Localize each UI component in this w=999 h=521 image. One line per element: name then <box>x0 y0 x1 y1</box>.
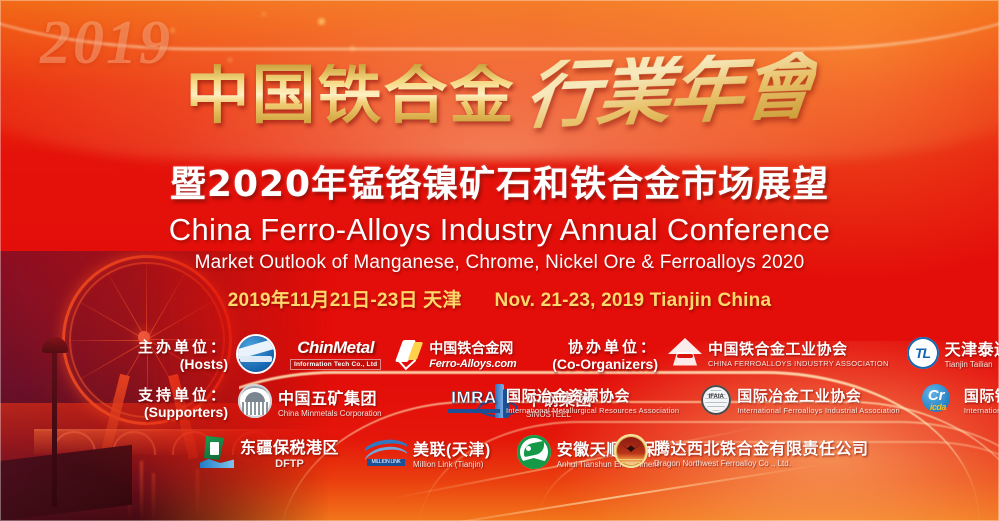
million-link-icon: MILLION LINK <box>365 438 407 466</box>
million-link-name-en: Million Link (Tianjin) <box>413 460 491 469</box>
ferro-alloys-icon: 中国铁合金网 Ferro-Alloys.com <box>397 338 516 370</box>
logo-chinmetal-globe <box>238 336 274 372</box>
tianjin-tailian-icon: TL <box>907 337 939 369</box>
hosts-label-en: (Hosts) <box>110 357 228 373</box>
date-chinese: 2019年11月21日-23日 天津 <box>228 290 462 311</box>
ifaia-name-en: International Ferroalloys Industrial Ass… <box>737 406 900 415</box>
logo-ferro-alloys: 中国铁合金网 Ferro-Alloys.com <box>397 338 516 370</box>
supporters-row-2: IMRA 国际冶金资源协会 International Metallurgica… <box>448 384 999 416</box>
logo-icda: Cricda 国际铬发展协会 International Chrome Deve… <box>922 384 999 416</box>
ifaia-globe-icon: IFAIA <box>701 385 731 415</box>
logo-ifaia: IFAIA 国际冶金工业协会 International Ferroalloys… <box>701 385 900 415</box>
ifaia-name-cn: 国际冶金工业协会 <box>737 385 900 406</box>
chinmetal-subtitle-text: Information Tech Co., Ltd <box>290 359 381 370</box>
chinmetal-wordmark-icon: ChinMetal Information Tech Co., Ltd <box>290 338 381 370</box>
hosts-logo-row: ChinMetal Information Tech Co., Ltd 中国铁合… <box>238 336 517 372</box>
million-link-name-cn: 美联(天津) <box>413 436 491 460</box>
date-english: Nov. 21-23, 2019 Tianjin China <box>495 290 772 311</box>
logo-million-link: MILLION LINK 美联(天津) Million Link (Tianji… <box>365 436 491 469</box>
supporters-label-cn: 支持单位： <box>110 388 228 405</box>
supporters-row-1: 中国五矿集团 China Minmetals Corporation <box>238 384 382 418</box>
cfia-name-cn: 中国铁合金工业协会 <box>708 338 889 359</box>
subtitle-english: Market Outlook of Manganese, Chrome, Nic… <box>0 252 999 274</box>
sponsors-area: 主办单位： (Hosts) 支持单位： (Supporters) 协办单位： (… <box>0 336 999 496</box>
logo-chinmetal: ChinMetal Information Tech Co., Ltd <box>290 338 381 370</box>
icda-name-cn: 国际铬发展协会 <box>964 385 999 406</box>
minmetals-name-en: China Minmetals Corporation <box>278 409 382 418</box>
dftp-sail-icon <box>200 436 234 468</box>
cfia-arch-icon <box>668 338 702 368</box>
dftp-name-cn: 东疆保税港区 <box>240 434 339 458</box>
dragon-northwest-eagle-icon <box>614 434 648 468</box>
logo-cfia: 中国铁合金工业协会 CHINA FERROALLOYS INDUSTRY ASS… <box>668 338 889 368</box>
tailian-name-en: Tianjin Tailian <box>945 360 999 369</box>
logo-tianjin-tailian: TL 天津泰连 Tianjin Tailian <box>907 336 999 369</box>
globe-grid-icon <box>238 336 274 372</box>
ferro-alloys-glyph <box>397 340 425 368</box>
supporters-row-3: 东疆保税港区 DFTP MILLION LINK 美联(天津) Million … <box>200 434 659 470</box>
hosts-label: 主办单位： (Hosts) <box>110 340 228 372</box>
conference-banner: 2019 中国铁合金 行業年會 暨2020年锰铬镍矿石和铁合金市场展望 Chin… <box>0 0 999 521</box>
icda-cr-icon: Cricda <box>922 384 958 416</box>
dragon-northwest-name-en: Dragon Northwest Ferroalloy Co ., Ltd. <box>654 459 869 468</box>
dftp-name-en: DFTP <box>275 458 304 470</box>
title-english: China Ferro-Alloys Industry Annual Confe… <box>0 212 999 248</box>
supporters-label: 支持单位： (Supporters) <box>110 388 228 420</box>
title-calligraphy-chinese: 行業年會 <box>521 51 818 131</box>
supporters-label-en: (Supporters) <box>110 405 228 421</box>
subtitle-chinese: 暨2020年锰铬镍矿石和铁合金市场展望 <box>0 155 999 207</box>
logo-dftp: 东疆保税港区 DFTP <box>200 434 339 470</box>
ferro-alloys-name-cn: 中国铁合金网 <box>429 338 516 358</box>
logo-imra: IMRA 国际冶金资源协会 International Metallurgica… <box>448 385 679 415</box>
minmetals-emblem-icon <box>238 384 272 418</box>
cfia-name-en: CHINA FERROALLOYS INDUSTRY ASSOCIATION <box>708 359 889 368</box>
anhui-tianshun-icon <box>517 435 551 469</box>
supporters-row-4: 腾达西北铁合金有限责任公司 Dragon Northwest Ferroallo… <box>614 434 869 468</box>
logo-dragon-northwest: 腾达西北铁合金有限责任公司 Dragon Northwest Ferroallo… <box>614 434 869 468</box>
icda-name-en: International Chrome Development Associa… <box>964 406 999 415</box>
ferro-alloys-name-en: Ferro-Alloys.com <box>429 358 516 370</box>
dragon-northwest-name-cn: 腾达西北铁合金有限责任公司 <box>654 435 869 459</box>
co-organizers-label: 协办单位： (Co-Organizers) <box>530 340 658 372</box>
tailian-name-cn: 天津泰连 <box>945 336 999 360</box>
chinmetal-wordmark-text: ChinMetal <box>297 338 374 358</box>
imra-wordmark-icon: IMRA <box>448 388 500 413</box>
imra-name-cn: 国际冶金资源协会 <box>506 385 679 406</box>
hosts-label-cn: 主办单位： <box>110 340 228 357</box>
minmetals-name-cn: 中国五矿集团 <box>278 385 382 409</box>
title-main-chinese: 中国铁合金 <box>186 64 516 128</box>
main-title-row: 中国铁合金 行業年會 <box>0 56 999 128</box>
imra-name-en: International Metallurgical Resources As… <box>506 406 679 415</box>
co-organizers-logo-row: 中国铁合金工业协会 CHINA FERROALLOYS INDUSTRY ASS… <box>668 336 999 369</box>
co-organizers-label-en: (Co-Organizers) <box>530 357 658 373</box>
co-organizers-label-cn: 协办单位： <box>530 340 658 357</box>
date-location-line: 2019年11月21日-23日 天津 Nov. 21-23, 2019 Tian… <box>0 285 999 312</box>
logo-minmetals: 中国五矿集团 China Minmetals Corporation <box>238 384 382 418</box>
